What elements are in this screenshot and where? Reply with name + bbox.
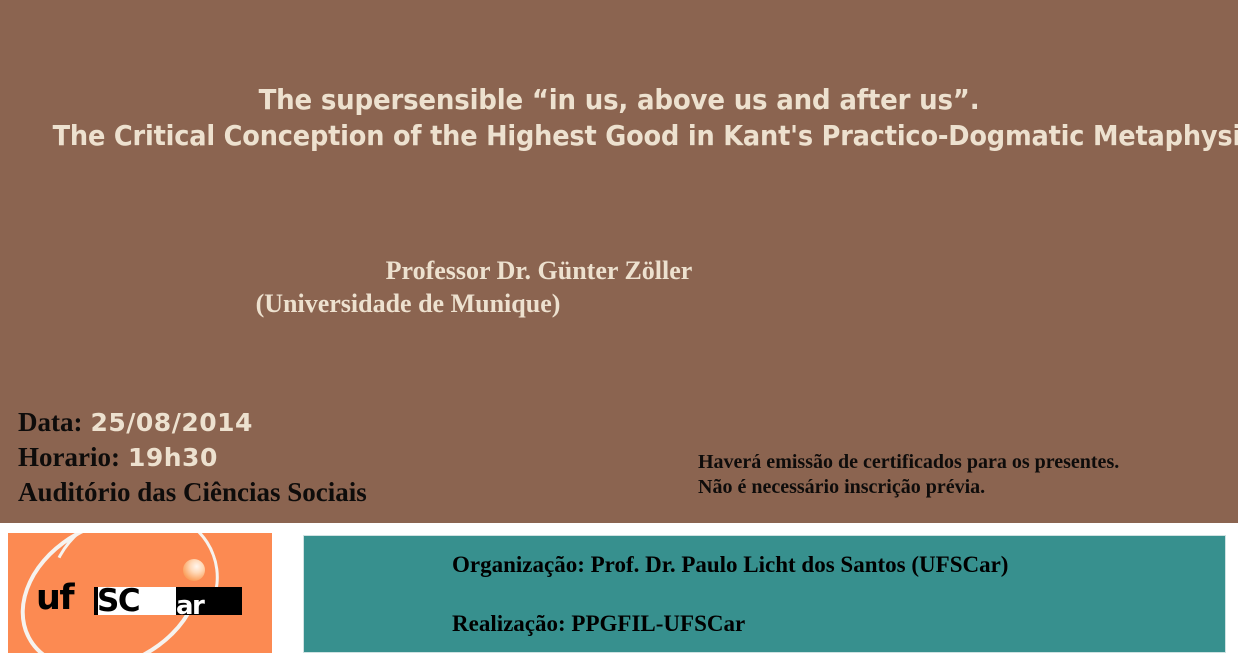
time-label: Horario: [18,442,120,472]
date-label: Data: [18,407,82,437]
time-row: Horario:19h30 [18,440,367,475]
title-line-2: The Critical Conception of the Highest G… [53,118,1186,154]
date-value: 25/08/2014 [90,408,252,437]
speaker-block: Professor Dr. Günter Zöller (Universidad… [0,254,1238,320]
date-row: Data:25/08/2014 [18,405,367,440]
credit-realization: Realização: PPGFIL-UFSCar [452,611,745,637]
logo-text-sc: SC [97,584,139,619]
logo-wordmark: uf SC ar [36,581,246,621]
title-line-1: The supersensible “in us, above us and a… [43,82,1194,118]
credits-panel: Organização: Prof. Dr. Paulo Licht dos S… [303,535,1226,653]
logo-sphere-icon [183,559,205,581]
speaker-name: Professor Dr. Günter Zöller [0,254,1238,287]
notice-line-1: Haverá emissão de certificados para os p… [698,450,1119,475]
logo-text-uf: uf [36,581,73,616]
credit-organization: Organização: Prof. Dr. Paulo Licht dos S… [452,552,1008,578]
attendance-notice: Haverá emissão de certificados para os p… [698,450,1119,500]
logo-text-ar: ar [176,589,203,624]
speaker-affiliation: (Universidade de Munique) [0,287,1238,320]
time-value: 19h30 [128,443,218,472]
event-poster: The supersensible “in us, above us and a… [0,0,1238,663]
notice-line-2: Não é necessário inscrição prévia. [698,475,1119,500]
ufscar-logo: uf SC ar [8,533,272,653]
poster-title: The supersensible “in us, above us and a… [0,82,1238,154]
venue-label: Auditório das Ciências Sociais [18,475,367,510]
event-details: Data:25/08/2014 Horario:19h30 Auditório … [18,405,367,510]
